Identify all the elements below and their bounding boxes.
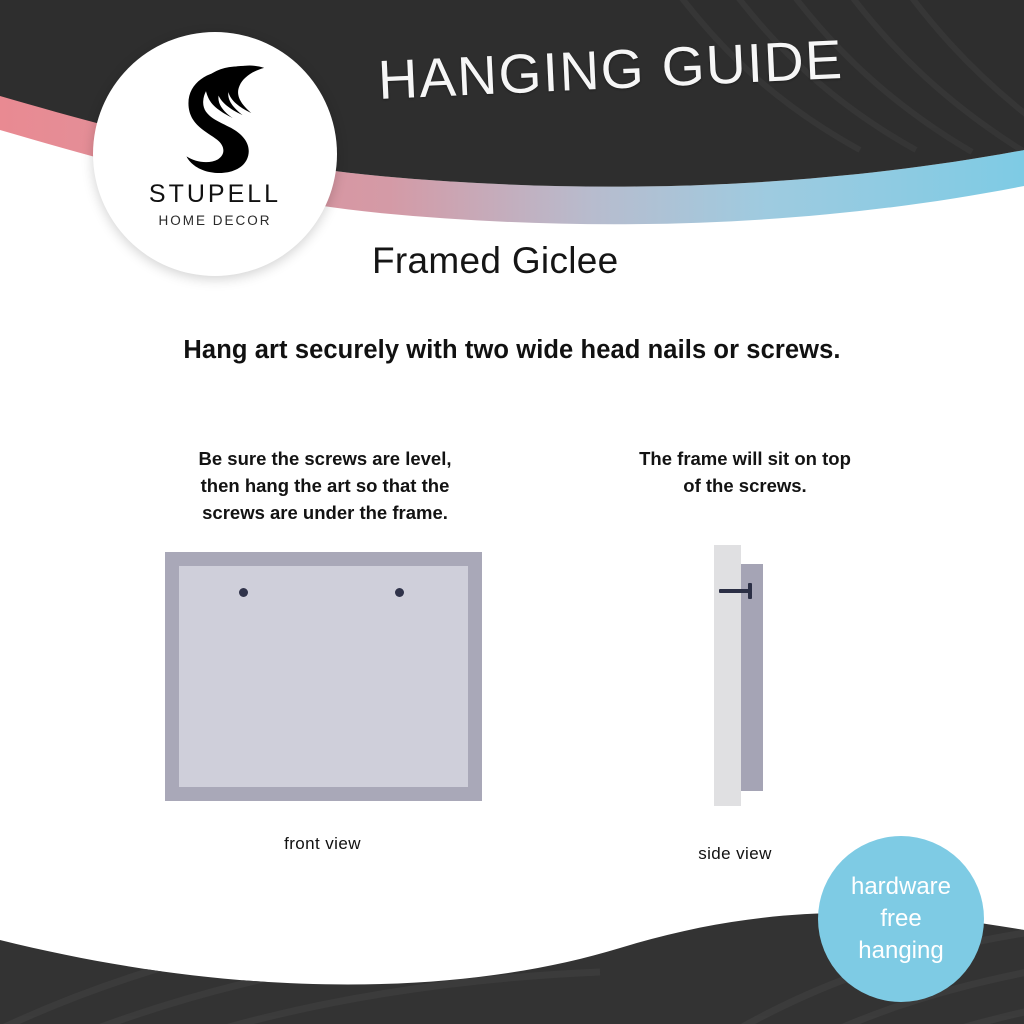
screw-dot-right — [395, 588, 404, 597]
front-view-frame-diagram — [165, 552, 482, 801]
intro-instruction: Hang art securely with two wide head nai… — [0, 336, 1024, 365]
badge-line-1: hardware — [851, 871, 951, 903]
hanging-guide-poster: HANGING GUIDE STUPELL HOME DECOR Framed … — [0, 0, 1024, 1024]
front-view-caption-line-1: Be sure the screws are level, — [160, 446, 490, 473]
badge-line-3: hanging — [858, 935, 943, 967]
side-view-caption: The frame will sit on top of the screws. — [595, 446, 895, 500]
brand-logo-badge: STUPELL HOME DECOR — [93, 32, 337, 276]
screw-dot-left — [239, 588, 248, 597]
side-view-wall — [714, 545, 741, 806]
side-view-frame — [741, 564, 763, 791]
hardware-free-hanging-badge: hardware free hanging — [818, 836, 984, 1002]
side-view-screw-head-icon — [748, 583, 752, 599]
front-view-caption-line-3: screws are under the frame. — [160, 500, 490, 527]
product-subtitle: Framed Giclee — [372, 240, 619, 282]
side-view-caption-line-2: of the screws. — [595, 473, 895, 500]
badge-line-2: free — [880, 903, 921, 935]
stupell-swoosh-icon — [156, 60, 274, 178]
logo-subwordmark: HOME DECOR — [158, 214, 271, 228]
side-view-label: side view — [640, 844, 830, 864]
front-view-frame-interior — [179, 566, 468, 787]
front-view-caption: Be sure the screws are level, then hang … — [160, 446, 490, 526]
page-title: HANGING GUIDE — [377, 27, 845, 112]
front-view-caption-line-2: then hang the art so that the — [160, 473, 490, 500]
front-view-label: front view — [165, 834, 480, 854]
logo-wordmark: STUPELL — [149, 182, 281, 207]
side-view-caption-line-1: The frame will sit on top — [595, 446, 895, 473]
